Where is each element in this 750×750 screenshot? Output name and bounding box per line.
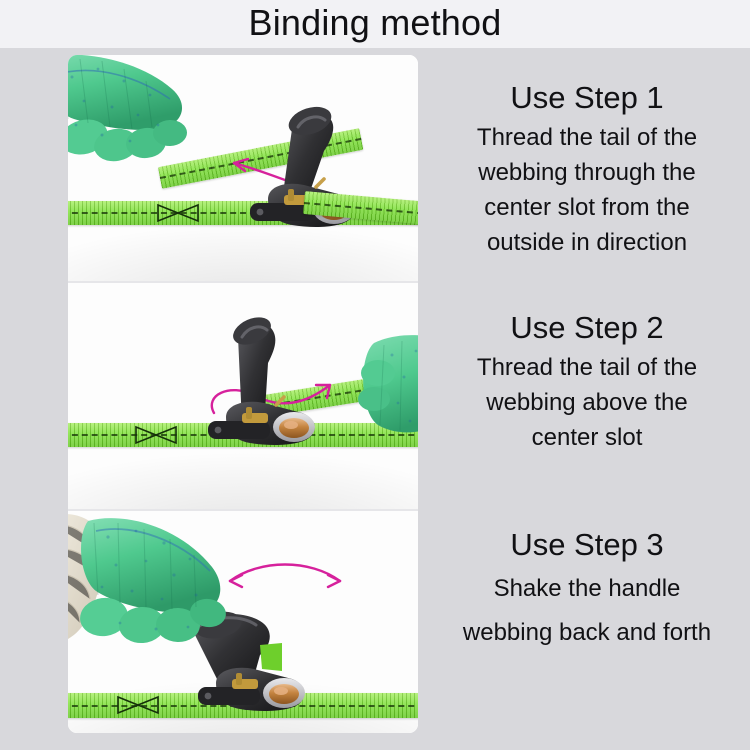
step-2-text: Use Step 2 Thread the tail of the webbin… bbox=[424, 308, 750, 455]
step-1-line-4: outside in direction bbox=[424, 225, 750, 260]
gloved-hand bbox=[68, 511, 262, 691]
step-3-text: Use Step 3 Shake the handle webbing back… bbox=[424, 525, 750, 655]
step-1-photo bbox=[68, 55, 418, 281]
step-1-text: Use Step 1 Thread the tail of the webbin… bbox=[424, 78, 750, 260]
instructions-column: Use Step 1 Thread the tail of the webbin… bbox=[424, 55, 750, 733]
step-1-line-2: webbing through the bbox=[424, 155, 750, 190]
step-2-line-2: webbing above the bbox=[424, 385, 750, 420]
step-3-heading: Use Step 3 bbox=[424, 525, 750, 565]
webbing-bowtie-mark bbox=[134, 425, 178, 445]
step-3-line-2: webbing back and forth bbox=[424, 611, 750, 655]
step-2-line-1: Thread the tail of the bbox=[424, 350, 750, 385]
webbing-bowtie-mark bbox=[116, 695, 160, 715]
step-3-line-1: Shake the handle bbox=[424, 567, 750, 611]
gloved-hand bbox=[68, 55, 234, 215]
step-2-heading: Use Step 2 bbox=[424, 308, 750, 348]
title-band: Binding method bbox=[0, 0, 750, 48]
step-1-heading: Use Step 1 bbox=[424, 78, 750, 118]
step-2-line-3: center slot bbox=[424, 420, 750, 455]
gloved-hand bbox=[344, 333, 418, 453]
photo-column bbox=[68, 55, 418, 733]
ratchet-buckle bbox=[198, 315, 348, 455]
step-3-photo bbox=[68, 509, 418, 733]
step-1-line-1: Thread the tail of the bbox=[424, 120, 750, 155]
step-1-line-3: center slot from the bbox=[424, 190, 750, 225]
page-title: Binding method bbox=[0, 0, 750, 48]
step-2-photo bbox=[68, 281, 418, 509]
binding-method-infographic: Binding method bbox=[0, 0, 750, 750]
